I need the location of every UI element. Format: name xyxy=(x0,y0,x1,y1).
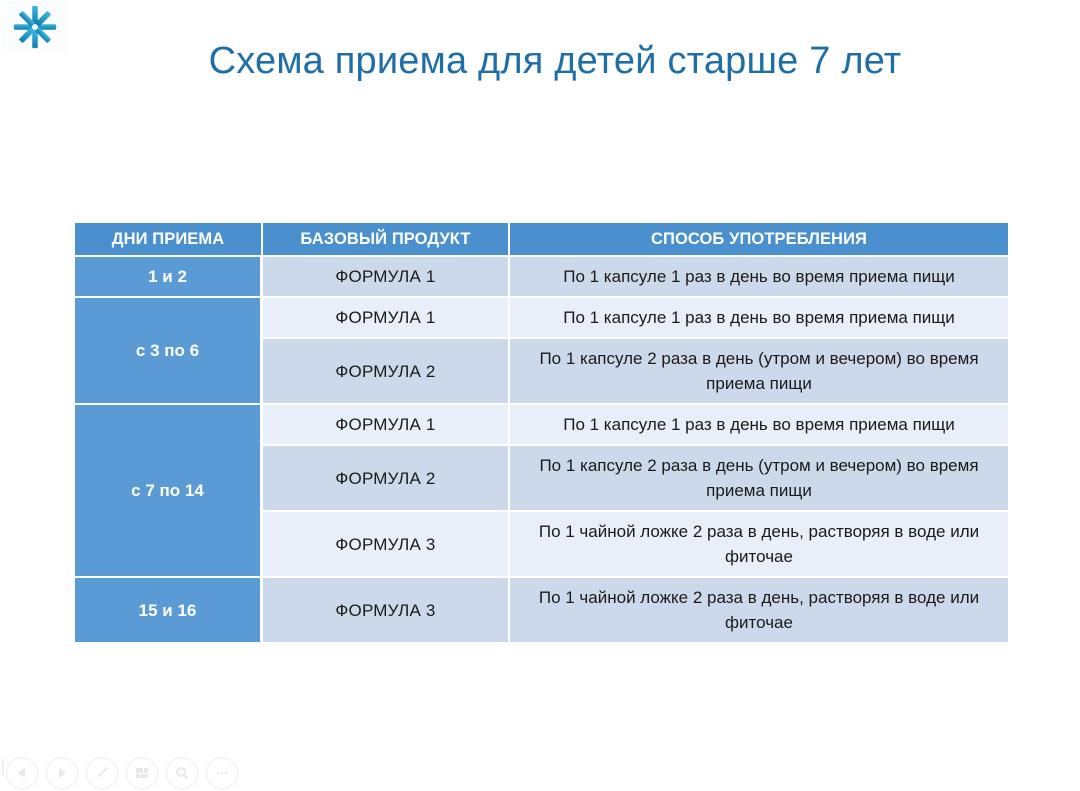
intake-schedule-table: ДНИ ПРИЕМА БАЗОВЫЙ ПРОДУКТ СПОСОБ УПОТРЕ… xyxy=(75,223,1008,644)
days-range-cell: 15 и 16 xyxy=(75,578,263,644)
table-row: 1 и 2ФОРМУЛА 1По 1 капсуле 1 раз в день … xyxy=(75,257,1008,298)
product-cell: ФОРМУЛА 1 xyxy=(263,298,510,339)
usage-cell: По 1 капсуле 1 раз в день во время прием… xyxy=(510,405,1008,446)
pen-annotate-icon xyxy=(94,765,110,781)
presentation-slide: Схема приема для детей старше 7 лет ДНИ … xyxy=(0,0,1080,755)
next-slide-button[interactable] xyxy=(46,757,78,789)
column-header-usage: СПОСОБ УПОТРЕБЛЕНИЯ xyxy=(510,223,1008,257)
days-range-cell: с 3 по 6 xyxy=(75,298,263,405)
table-row: с 7 по 14ФОРМУЛА 1По 1 капсуле 1 раз в д… xyxy=(75,405,1008,446)
product-cell: ФОРМУЛА 3 xyxy=(263,512,510,578)
days-range-cell: 1 и 2 xyxy=(75,257,263,298)
zoom-magnifier-button[interactable] xyxy=(166,757,198,789)
page-title: Схема приема для детей старше 7 лет xyxy=(90,38,1020,84)
column-header-product: БАЗОВЫЙ ПРОДУКТ xyxy=(263,223,510,257)
presentation-player-toolbar[interactable] xyxy=(0,755,1080,791)
more-options-icon xyxy=(214,765,230,781)
usage-cell: По 1 капсуле 1 раз в день во время прием… xyxy=(510,257,1008,298)
brand-logo xyxy=(2,1,68,53)
product-cell: ФОРМУЛА 1 xyxy=(263,257,510,298)
slides-grid-icon xyxy=(134,765,150,781)
usage-cell: По 1 капсуле 2 раза в день (утром и вече… xyxy=(510,339,1008,405)
table-body: 1 и 2ФОРМУЛА 1По 1 капсуле 1 раз в день … xyxy=(75,257,1008,644)
column-header-days: ДНИ ПРИЕМА xyxy=(75,223,263,257)
product-cell: ФОРМУЛА 2 xyxy=(263,339,510,405)
table-header: ДНИ ПРИЕМА БАЗОВЫЙ ПРОДУКТ СПОСОБ УПОТРЕ… xyxy=(75,223,1008,257)
toolbar-edge-marker xyxy=(2,759,4,775)
product-cell: ФОРМУЛА 2 xyxy=(263,446,510,512)
more-options-button[interactable] xyxy=(206,757,238,789)
usage-cell: По 1 чайной ложке 2 раза в день, раствор… xyxy=(510,512,1008,578)
usage-cell: По 1 чайной ложке 2 раза в день, раствор… xyxy=(510,578,1008,644)
product-cell: ФОРМУЛА 1 xyxy=(263,405,510,446)
previous-slide-button[interactable] xyxy=(6,757,38,789)
table-row: 15 и 16ФОРМУЛА 3По 1 чайной ложке 2 раза… xyxy=(75,578,1008,644)
next-slide-icon xyxy=(55,766,69,780)
slides-grid-button[interactable] xyxy=(126,757,158,789)
table-row: с 3 по 6ФОРМУЛА 1По 1 капсуле 1 раз в де… xyxy=(75,298,1008,339)
days-range-cell: с 7 по 14 xyxy=(75,405,263,578)
pen-annotate-button[interactable] xyxy=(86,757,118,789)
table-header-row: ДНИ ПРИЕМА БАЗОВЫЙ ПРОДУКТ СПОСОБ УПОТРЕ… xyxy=(75,223,1008,257)
usage-cell: По 1 капсуле 1 раз в день во время прием… xyxy=(510,298,1008,339)
zoom-magnifier-icon xyxy=(174,765,190,781)
product-cell: ФОРМУЛА 3 xyxy=(263,578,510,644)
usage-cell: По 1 капсуле 2 раза в день (утром и вече… xyxy=(510,446,1008,512)
snowflake-logo-icon xyxy=(12,4,58,50)
previous-slide-icon xyxy=(15,766,29,780)
